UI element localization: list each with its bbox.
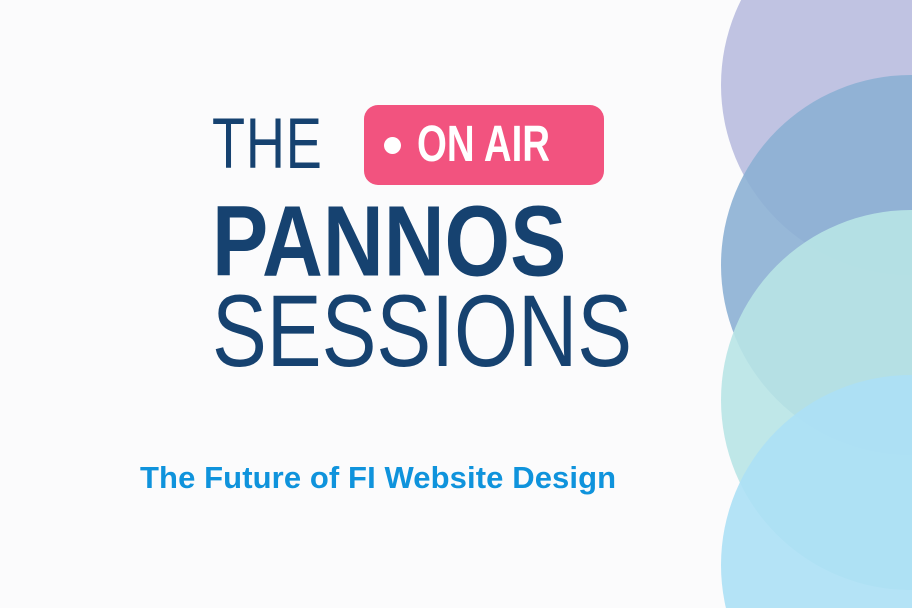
logo-word-pannos: PANNOS — [212, 197, 479, 285]
circle-sky-blue — [721, 375, 912, 608]
circle-periwinkle — [721, 0, 912, 275]
logo-word-sessions: SESSIONS — [212, 287, 469, 376]
slide-canvas: THE ON AIR PANNOS SESSIONS The Future of… — [0, 0, 912, 608]
on-air-badge: ON AIR — [364, 105, 604, 185]
circle-pale-teal — [721, 210, 912, 590]
circle-steel-blue — [721, 75, 912, 455]
logo-top-row: THE ON AIR — [212, 104, 522, 186]
logo-lockup: THE ON AIR PANNOS SESSIONS — [212, 104, 522, 374]
recording-dot-icon — [384, 137, 401, 154]
logo-word-the: THE — [212, 107, 323, 178]
episode-subtitle: The Future of FI Website Design — [140, 458, 616, 498]
on-air-label: ON AIR — [417, 120, 550, 171]
